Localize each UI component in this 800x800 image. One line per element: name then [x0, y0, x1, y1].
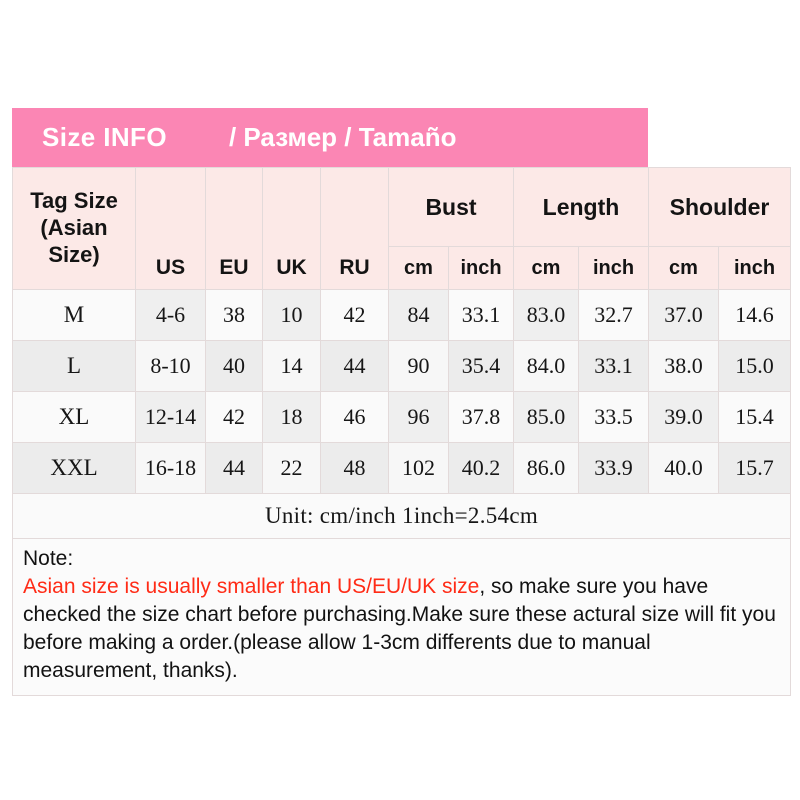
- note-highlight: Asian size is usually smaller than US/EU…: [23, 575, 479, 598]
- note-label: Note:: [23, 545, 780, 573]
- header-region-ru: RU: [321, 247, 389, 290]
- cell-bust-inch: 33.1: [449, 290, 514, 341]
- cell-bust-inch: 37.8: [449, 392, 514, 443]
- cell-length-inch: 33.5: [579, 392, 649, 443]
- header-group-length: Length: [514, 168, 649, 247]
- cell-bust-inch: 40.2: [449, 443, 514, 494]
- cell-shoulder-inch: 15.4: [719, 392, 791, 443]
- table-row: XL 12-14 42 18 46 96 37.8 85.0 33.5 39.0…: [13, 392, 791, 443]
- header-unit-shoulder-cm: cm: [649, 247, 719, 290]
- cell-bust-cm: 84: [389, 290, 449, 341]
- cell-us: 16-18: [136, 443, 206, 494]
- table-row: M 4-6 38 10 42 84 33.1 83.0 32.7 37.0 14…: [13, 290, 791, 341]
- cell-bust-cm: 96: [389, 392, 449, 443]
- cell-bust-cm: 102: [389, 443, 449, 494]
- header-region-uk: UK: [263, 247, 321, 290]
- header-spacer-us: [136, 168, 206, 247]
- header-tag-size-line1: Tag Size: [17, 188, 131, 215]
- cell-length-cm: 84.0: [514, 341, 579, 392]
- size-info-title: Size INFO: [42, 122, 167, 153]
- cell-shoulder-inch: 15.7: [719, 443, 791, 494]
- table-row: XXL 16-18 44 22 48 102 40.2 86.0 33.9 40…: [13, 443, 791, 494]
- cell-length-cm: 83.0: [514, 290, 579, 341]
- cell-us: 12-14: [136, 392, 206, 443]
- cell-eu: 40: [206, 341, 263, 392]
- unit-conversion-text: Unit: cm/inch 1inch=2.54cm: [13, 494, 791, 539]
- cell-shoulder-cm: 38.0: [649, 341, 719, 392]
- cell-eu: 38: [206, 290, 263, 341]
- cell-shoulder-cm: 37.0: [649, 290, 719, 341]
- header-unit-length-cm: cm: [514, 247, 579, 290]
- cell-eu: 42: [206, 392, 263, 443]
- unit-conversion-row: Unit: cm/inch 1inch=2.54cm: [13, 494, 791, 539]
- cell-shoulder-inch: 14.6: [719, 290, 791, 341]
- cell-length-inch: 33.1: [579, 341, 649, 392]
- size-chart-table: Tag Size (Asian Size) Bust Length Should…: [12, 167, 791, 696]
- cell-length-cm: 86.0: [514, 443, 579, 494]
- header-tag-size: Tag Size (Asian Size): [13, 168, 136, 290]
- header-group-shoulder: Shoulder: [649, 168, 791, 247]
- header-region-eu: EU: [206, 247, 263, 290]
- cell-uk: 22: [263, 443, 321, 494]
- size-info-title-translations: / Размер / Tamaño: [229, 122, 457, 153]
- table-row: L 8-10 40 14 44 90 35.4 84.0 33.1 38.0 1…: [13, 341, 791, 392]
- cell-length-inch: 32.7: [579, 290, 649, 341]
- note-cell: Note: Asian size is usually smaller than…: [13, 539, 791, 696]
- header-unit-length-inch: inch: [579, 247, 649, 290]
- header-spacer-ru: [321, 168, 389, 247]
- cell-uk: 14: [263, 341, 321, 392]
- cell-tag-size: XL: [13, 392, 136, 443]
- cell-bust-cm: 90: [389, 341, 449, 392]
- cell-ru: 42: [321, 290, 389, 341]
- cell-tag-size: M: [13, 290, 136, 341]
- cell-ru: 44: [321, 341, 389, 392]
- cell-tag-size: XXL: [13, 443, 136, 494]
- header-region-us: US: [136, 247, 206, 290]
- size-info-title-bar: Size INFO / Размер / Tamaño: [12, 108, 648, 167]
- cell-length-cm: 85.0: [514, 392, 579, 443]
- cell-tag-size: L: [13, 341, 136, 392]
- cell-us: 8-10: [136, 341, 206, 392]
- size-chart-root: Size INFO / Размер / Tamaño Tag Size (As…: [0, 0, 800, 800]
- cell-shoulder-inch: 15.0: [719, 341, 791, 392]
- cell-us: 4-6: [136, 290, 206, 341]
- header-spacer-uk: [263, 168, 321, 247]
- header-unit-bust-inch: inch: [449, 247, 514, 290]
- note-row: Note: Asian size is usually smaller than…: [13, 539, 791, 696]
- cell-ru: 48: [321, 443, 389, 494]
- note-body: Asian size is usually smaller than US/EU…: [23, 573, 780, 686]
- cell-length-inch: 33.9: [579, 443, 649, 494]
- header-group-bust: Bust: [389, 168, 514, 247]
- table-header-group-row: Tag Size (Asian Size) Bust Length Should…: [13, 168, 791, 247]
- cell-uk: 18: [263, 392, 321, 443]
- cell-eu: 44: [206, 443, 263, 494]
- header-tag-size-line3: Size): [17, 242, 131, 269]
- cell-shoulder-cm: 39.0: [649, 392, 719, 443]
- cell-ru: 46: [321, 392, 389, 443]
- header-unit-shoulder-inch: inch: [719, 247, 791, 290]
- header-unit-bust-cm: cm: [389, 247, 449, 290]
- cell-uk: 10: [263, 290, 321, 341]
- cell-bust-inch: 35.4: [449, 341, 514, 392]
- header-spacer-eu: [206, 168, 263, 247]
- header-tag-size-line2: (Asian: [17, 215, 131, 242]
- cell-shoulder-cm: 40.0: [649, 443, 719, 494]
